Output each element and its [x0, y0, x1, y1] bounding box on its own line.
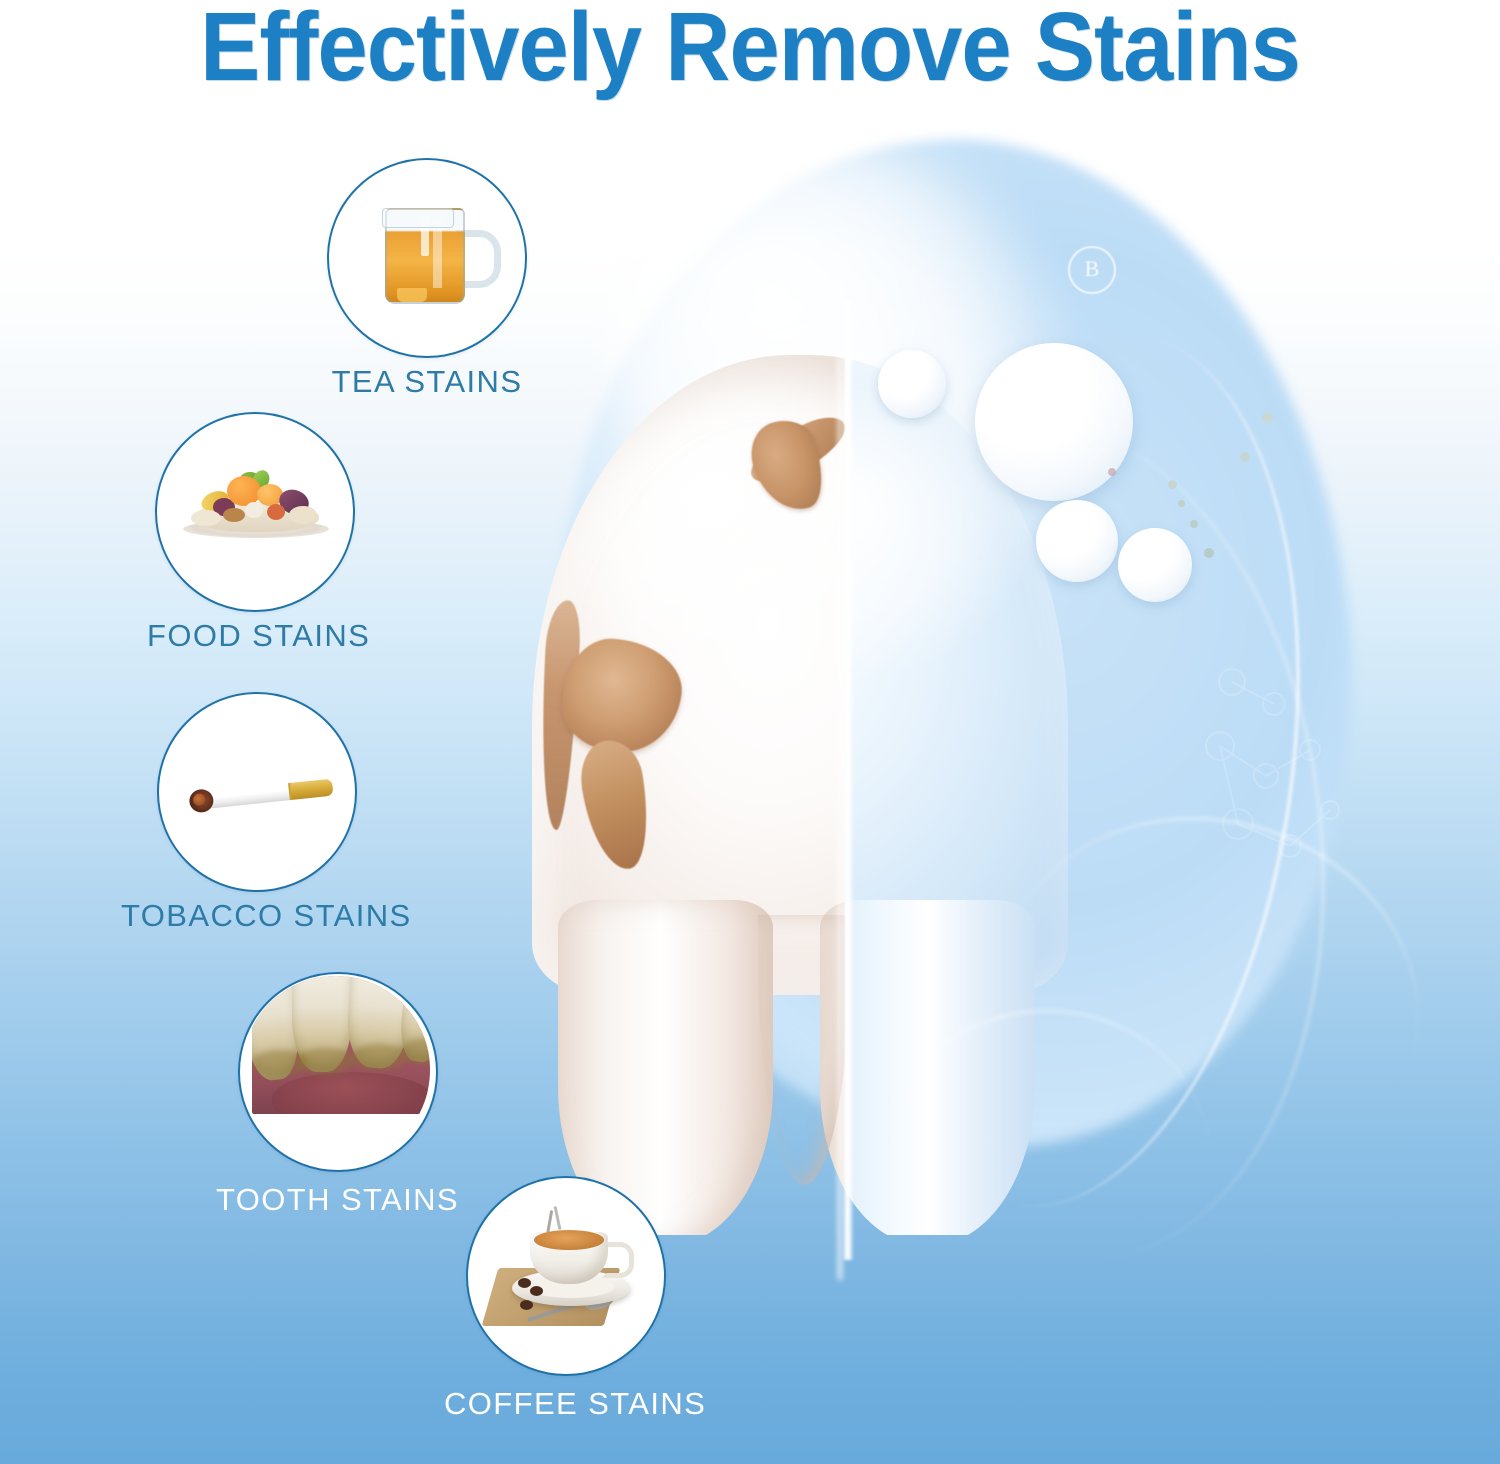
- badge-tea-stains[interactable]: TEA STAINS: [327, 158, 527, 420]
- smoke-wisp: [211, 703, 227, 734]
- tongue: [272, 1072, 430, 1114]
- coffee-bean: [518, 1278, 531, 1288]
- foam-bubble: [878, 350, 946, 418]
- badge-circle-tooth: [238, 972, 438, 1172]
- food-bit: [289, 506, 317, 524]
- cigarette-filter: [290, 779, 334, 800]
- food-bit: [245, 502, 263, 518]
- badge-coffee-stains[interactable]: COFFEE STAINS: [466, 1176, 666, 1444]
- coffee-cup-icon: [490, 1214, 646, 1338]
- foam-bubble: [1118, 528, 1192, 602]
- foam-bubble: [975, 343, 1133, 501]
- badge-label-tobacco: TOBACCO STAINS: [121, 898, 321, 934]
- micro-particle: [1262, 412, 1273, 423]
- badge-circle-coffee: [466, 1176, 666, 1376]
- badge-label-food: FOOD STAINS: [147, 618, 347, 654]
- micro-particle: [1204, 548, 1214, 558]
- brand-watermark-icon: B: [1068, 246, 1116, 294]
- plaque-shade: [350, 1044, 408, 1070]
- badge-tooth-stains[interactable]: TOOTH STAINS: [238, 972, 438, 1240]
- micro-particle: [1108, 468, 1116, 476]
- badge-label-tea: TEA STAINS: [327, 364, 527, 400]
- badge-label-coffee: COFFEE STAINS: [444, 1386, 644, 1422]
- mug-bottom-tint: [397, 288, 427, 302]
- cigarette-icon: [186, 768, 339, 819]
- mug-shine: [433, 218, 442, 288]
- micro-particle: [1178, 500, 1185, 507]
- micro-particle: [1240, 452, 1250, 462]
- food-pile-icon: [183, 472, 329, 542]
- gum-photo: [252, 976, 430, 1114]
- page-title: Effectively Remove Stains: [53, 0, 1448, 102]
- badge-food-stains[interactable]: FOOD STAINS: [155, 412, 355, 674]
- plaque-shade: [296, 1048, 354, 1074]
- foam-bubble: [1036, 500, 1118, 582]
- badge-circle-tobacco: [157, 692, 357, 892]
- mug-rim: [382, 208, 454, 228]
- food-bit: [191, 510, 221, 526]
- micro-particle: [1190, 520, 1198, 528]
- product-infographic: B Effectively Remove Stains TEA STAINS: [0, 0, 1500, 1464]
- badge-circle-food: [155, 412, 355, 612]
- molecule-doodle-icon: [1190, 650, 1380, 900]
- coffee-crema: [534, 1230, 604, 1250]
- food-bit: [223, 508, 245, 522]
- tea-mug-icon: [379, 206, 479, 304]
- badge-tobacco-stains[interactable]: TOBACCO STAINS: [157, 692, 357, 954]
- coffee-bean: [520, 1300, 533, 1310]
- stained-teeth-icon: [242, 976, 430, 1164]
- micro-particle: [1168, 480, 1177, 489]
- cigarette-body: [204, 783, 293, 809]
- coffee-steam: [554, 1206, 562, 1230]
- coffee-bean: [530, 1286, 543, 1296]
- food-bit: [267, 504, 285, 520]
- badge-circle-tea: [327, 158, 527, 358]
- badge-label-tooth: TOOTH STAINS: [216, 1182, 416, 1218]
